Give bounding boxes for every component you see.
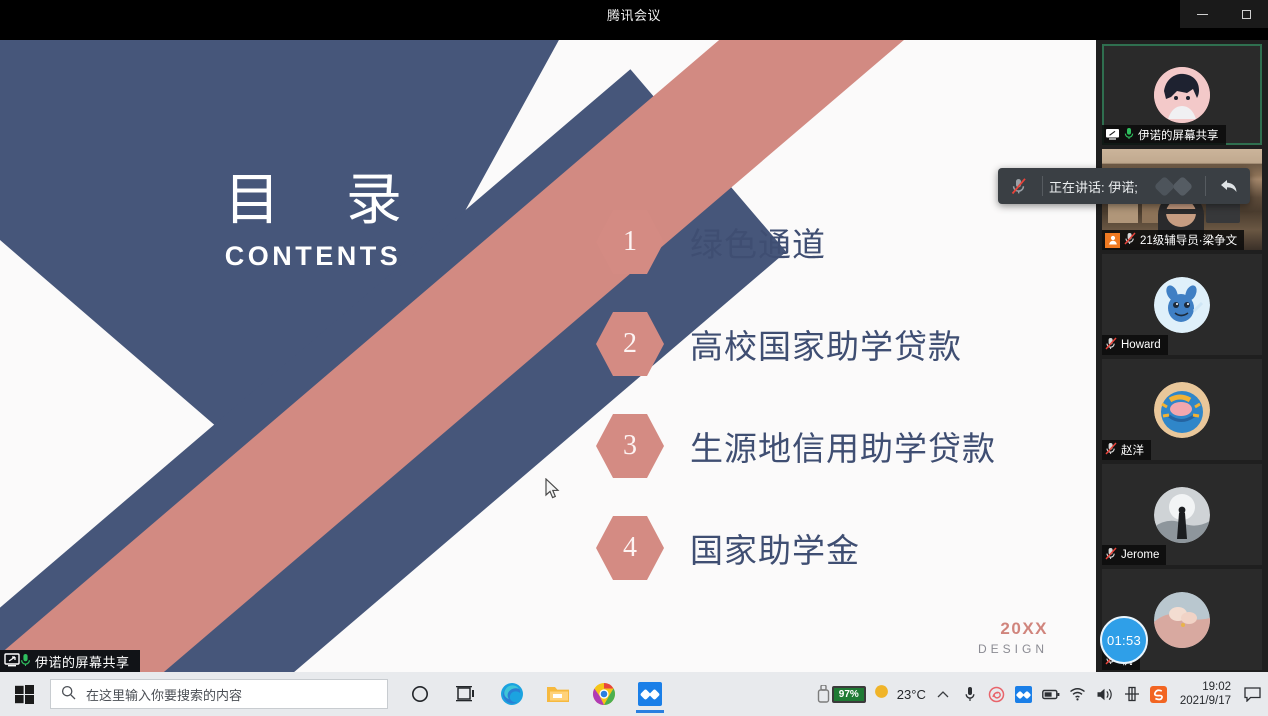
- battery-tray-icon[interactable]: [1041, 684, 1061, 704]
- clock[interactable]: 19:02 2021/9/17: [1176, 680, 1235, 709]
- search-placeholder: 在这里输入你要搜索的内容: [86, 685, 242, 704]
- screen-share-banner: 伊诺的屏幕共享: [0, 650, 140, 672]
- microphone-off-icon: [1105, 547, 1117, 563]
- hexagon-badge: 1: [596, 208, 664, 276]
- restore-button[interactable]: [1224, 0, 1268, 28]
- participant-tile[interactable]: Jerome: [1102, 464, 1262, 565]
- list-item-number: 2: [623, 328, 637, 360]
- action-center-icon[interactable]: [1242, 684, 1262, 704]
- avatar: [1154, 277, 1210, 333]
- screen-share-icon: [1105, 128, 1120, 143]
- list-item-number: 4: [623, 532, 637, 564]
- sogou-icon[interactable]: [1149, 684, 1169, 704]
- microphone-on-icon: [20, 653, 31, 670]
- list-item-number: 3: [623, 430, 637, 462]
- table-of-contents: 1 绿色通道 2 高校国家助学贷款 3 生源地信用助学贷款: [596, 208, 996, 616]
- avatar: [1154, 592, 1210, 648]
- titlebar-spacer: [1154, 0, 1180, 28]
- shared-screen-stage[interactable]: 目 录 CONTENTS >>>>> 1 绿色通道 2 高: [0, 40, 1096, 672]
- taskbar-app-icons: [400, 674, 670, 714]
- hexagon-badge: 4: [596, 514, 664, 582]
- return-arrow-icon[interactable]: [1212, 177, 1246, 195]
- search-input[interactable]: 在这里输入你要搜索的内容: [50, 679, 388, 709]
- hexagon-badge: 2: [596, 310, 664, 378]
- slide-footer: 20XX DESIGN: [978, 619, 1048, 656]
- list-item-number: 1: [623, 226, 637, 258]
- minimize-button[interactable]: [1180, 0, 1224, 28]
- ime-icon[interactable]: [1122, 684, 1142, 704]
- window-titlebar: 腾讯会议: [0, 0, 1268, 28]
- participant-namebar: Howard: [1102, 335, 1168, 355]
- list-item: 1 绿色通道: [596, 208, 996, 276]
- tencent-meeting-tray-icon[interactable]: [1014, 684, 1034, 704]
- participant-tile[interactable]: Howard: [1102, 254, 1262, 355]
- avatar: [1154, 382, 1210, 438]
- list-item: 4 国家助学金: [596, 514, 996, 582]
- slide-title-en: CONTENTS: [148, 241, 478, 272]
- participant-namebar: 赵洋: [1102, 440, 1151, 460]
- participant-namebar: 伊诺的屏幕共享: [1102, 125, 1226, 145]
- toolbar-divider: [1205, 176, 1206, 196]
- netease-icon[interactable]: [987, 684, 1007, 704]
- search-icon: [61, 685, 76, 703]
- hexagon-badge: 3: [596, 412, 664, 480]
- microphone-off-icon: [1124, 232, 1136, 248]
- slide-footer-design: DESIGN: [978, 642, 1048, 656]
- weather-temperature[interactable]: 23°C: [897, 687, 926, 702]
- microphone-icon[interactable]: [960, 684, 980, 704]
- start-button[interactable]: [0, 672, 48, 716]
- window-title: 腾讯会议: [607, 5, 661, 24]
- microphone-off-icon: [1105, 442, 1117, 458]
- windows-taskbar: 在这里输入你要搜索的内容: [0, 672, 1268, 716]
- mute-toggle-button[interactable]: [1002, 177, 1036, 195]
- list-item-label: 生源地信用助学贷款: [690, 422, 996, 470]
- cortana-icon[interactable]: [400, 674, 440, 714]
- chrome-icon[interactable]: [584, 674, 624, 714]
- screen-share-icon: [4, 653, 20, 670]
- list-item-label: 国家助学金: [690, 524, 860, 572]
- task-view-icon[interactable]: [446, 674, 486, 714]
- volume-icon[interactable]: [1095, 684, 1115, 704]
- list-item-label: 绿色通道: [690, 218, 826, 266]
- participant-rail[interactable]: 伊诺的屏幕共享: [1096, 40, 1268, 672]
- slide-title-block: 目 录 CONTENTS: [148, 172, 478, 272]
- participant-namebar: 21级辅导员·梁争文: [1102, 230, 1244, 250]
- clock-date: 2021/9/17: [1180, 694, 1231, 708]
- weather-sun-icon[interactable]: [873, 683, 890, 705]
- toolbar-divider: [1042, 176, 1043, 196]
- list-item: 3 生源地信用助学贷款: [596, 412, 996, 480]
- participant-name: 赵洋: [1121, 442, 1144, 458]
- participant-name: 伊诺的屏幕共享: [1138, 127, 1219, 143]
- participant-name: Jerome: [1121, 549, 1159, 561]
- tencent-meeting-icon[interactable]: [630, 674, 670, 714]
- timer-value: 01:53: [1107, 633, 1141, 648]
- chevron-up-icon[interactable]: [933, 684, 953, 704]
- list-item-label: 高校国家助学贷款: [690, 320, 962, 368]
- avatar: [1154, 67, 1210, 123]
- window-controls: [1154, 0, 1268, 28]
- slide-footer-year: 20XX: [978, 619, 1048, 639]
- clock-time: 19:02: [1180, 680, 1231, 694]
- microphone-off-icon: [1105, 337, 1117, 353]
- tencent-meeting-logo-icon: [1153, 175, 1199, 197]
- speaking-toolbar[interactable]: 正在讲话: 伊诺;: [998, 168, 1250, 204]
- participant-namebar: Jerome: [1102, 545, 1166, 565]
- list-item: 2 高校国家助学贷款: [596, 310, 996, 378]
- edge-icon[interactable]: [492, 674, 532, 714]
- meeting-timer-badge[interactable]: 01:53: [1100, 616, 1148, 664]
- system-tray: 97% 23°C: [817, 680, 1268, 709]
- avatar: [1154, 487, 1210, 543]
- participant-name: Howard: [1121, 339, 1161, 351]
- battery-percentage: 97%: [832, 686, 866, 703]
- participant-tile[interactable]: 赵洋: [1102, 359, 1262, 460]
- participant-name: 21级辅导员·梁争文: [1140, 232, 1237, 248]
- wifi-icon[interactable]: [1068, 684, 1088, 704]
- presentation-slide: 目 录 CONTENTS >>>>> 1 绿色通道 2 高: [0, 40, 1096, 672]
- speaking-status-text: 正在讲话: 伊诺;: [1049, 177, 1138, 196]
- screen-share-owner-label: 伊诺的屏幕共享: [35, 652, 130, 671]
- slide-title-cn: 目 录: [148, 172, 478, 231]
- file-explorer-icon[interactable]: [538, 674, 578, 714]
- mouse-cursor: [545, 478, 561, 505]
- participant-tile[interactable]: 伊诺的屏幕共享: [1102, 44, 1262, 145]
- screen: 腾讯会议 目 录 CONTENTS >>>>>: [0, 0, 1268, 716]
- microphone-on-icon: [1124, 127, 1134, 143]
- battery-indicator[interactable]: 97%: [817, 685, 866, 703]
- host-icon: [1105, 233, 1120, 248]
